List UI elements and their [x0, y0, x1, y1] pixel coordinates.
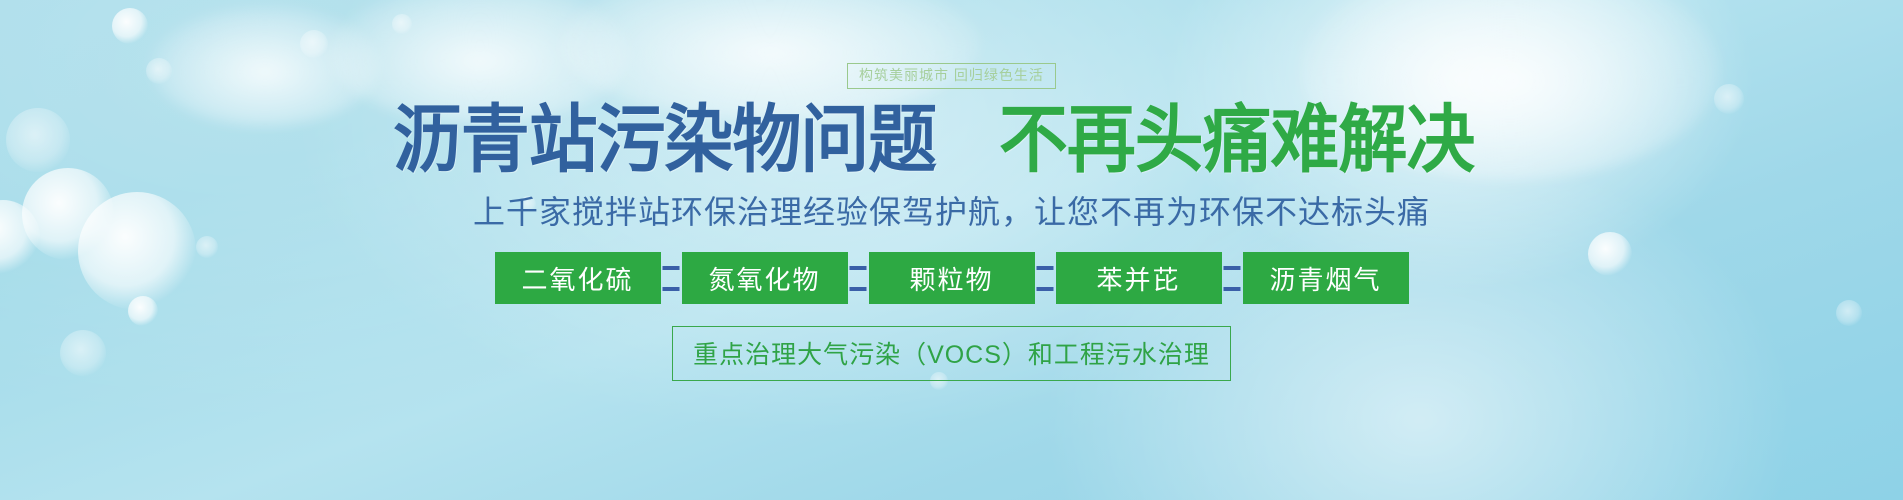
- banner-content: 构筑美丽城市 回归绿色生活 沥青站污染物问题 不再头痛难解决 上千家搅拌站环保治…: [0, 0, 1903, 500]
- tagline-badge: 构筑美丽城市 回归绿色生活: [847, 63, 1056, 89]
- scope-note: 重点治理大气污染（VOCS）和工程污水治理: [672, 326, 1231, 381]
- separator-dash-icon: [1224, 266, 1241, 270]
- page-subtitle: 上千家搅拌站环保治理经验保驾护航，让您不再为环保不达标头痛: [473, 187, 1430, 233]
- hero-banner: 构筑美丽城市 回归绿色生活 沥青站污染物问题 不再头痛难解决 上千家搅拌站环保治…: [0, 0, 1903, 500]
- separator-dash-icon: [1037, 287, 1054, 291]
- pollutant-pill[interactable]: 苯并芘: [1056, 252, 1222, 304]
- pollutant-pill[interactable]: 氮氧化物: [682, 252, 848, 304]
- separator-dash-icon: [1224, 287, 1241, 291]
- page-title: 沥青站污染物问题 不再头痛难解决: [393, 102, 1510, 177]
- pollutant-pill-list: 二氧化硫 氮氧化物 颗粒物 苯并芘 沥青烟气: [495, 252, 1409, 304]
- pill-separator: [848, 252, 869, 304]
- pollutant-pill[interactable]: 颗粒物: [869, 252, 1035, 304]
- pollutant-pill[interactable]: 沥青烟气: [1243, 252, 1409, 304]
- separator-dash-icon: [1037, 266, 1054, 270]
- pill-separator: [1035, 252, 1056, 304]
- page-title-primary: 沥青站污染物问题: [393, 102, 936, 177]
- separator-dash-icon: [663, 287, 680, 291]
- pill-separator: [661, 252, 682, 304]
- page-title-accent: 不再头痛难解决: [999, 102, 1474, 177]
- pill-separator: [1222, 252, 1243, 304]
- separator-dash-icon: [850, 287, 867, 291]
- separator-dash-icon: [850, 266, 867, 270]
- separator-dash-icon: [663, 266, 680, 270]
- pollutant-pill[interactable]: 二氧化硫: [495, 252, 661, 304]
